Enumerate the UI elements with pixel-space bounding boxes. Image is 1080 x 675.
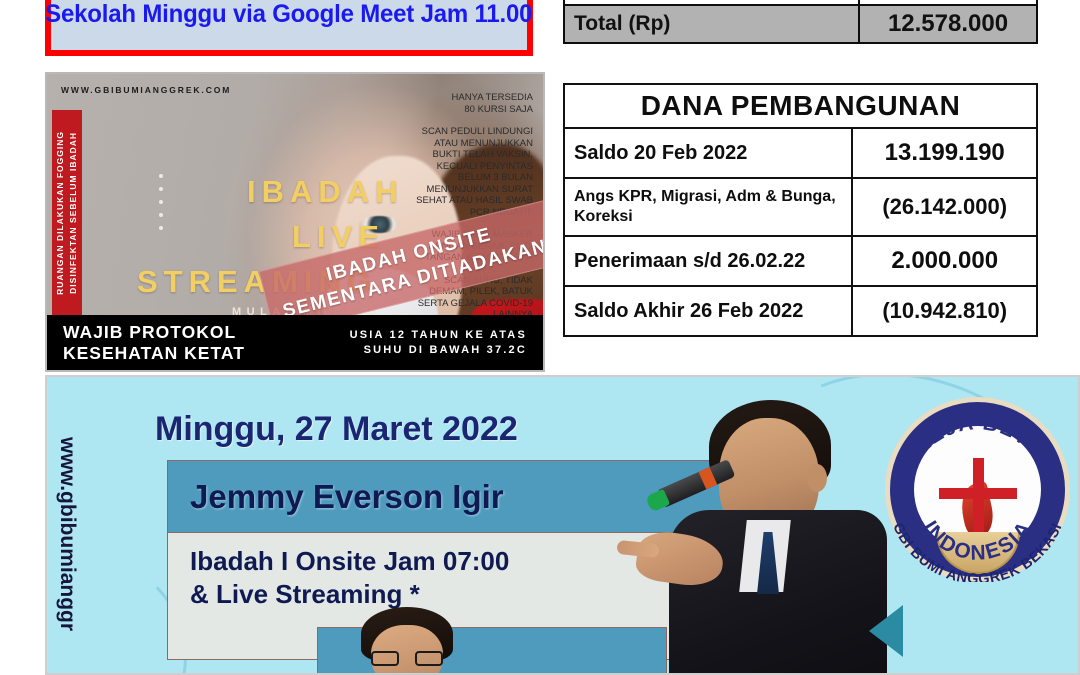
table-row: Penerimaan s/d 26.02.22 2.000.000 xyxy=(564,236,1037,286)
poster-note-0: HANYA TERSEDIA 80 KURSI SAJA xyxy=(385,92,533,115)
speaker-name: Jemmy Everson Igir xyxy=(190,478,504,516)
poster-footer-left: WAJIB PROTOKOL KESEHATAN KETAT xyxy=(63,322,245,364)
poster-footer: WAJIB PROTOKOL KESEHATAN KETAT USIA 12 T… xyxy=(47,315,543,370)
svg-text:INDONESIA: INDONESIA xyxy=(918,516,1037,564)
row-label-saldo-akhir: Saldo Akhir 26 Feb 2022 xyxy=(564,286,852,336)
page-root: Sekolah Minggu via Google Meet Jam 11.00… xyxy=(0,0,1080,675)
speaker-photo xyxy=(647,392,897,675)
row-label-total: Total (Rp) xyxy=(564,5,859,43)
svg-text:GEREJA BETHEL: GEREJA BETHEL xyxy=(891,411,1065,488)
row-value-saldo-akhir: (10.942.810) xyxy=(852,286,1037,336)
service-schedule-banner: www.gbibumianggr Minggu, 27 Maret 2022 J… xyxy=(45,375,1080,675)
table-row: Saldo Akhir 26 Feb 2022 (10.942.810) xyxy=(564,286,1037,336)
poster-note-1: SCAN PEDULI LINDUNGI ATAU MENUNJUKKAN BU… xyxy=(385,126,533,218)
speaker-ear xyxy=(807,464,827,492)
poster-website: WWW.GBIBUMIANGGREK.COM xyxy=(61,85,231,95)
gbi-logo: GEREJA BETHEL INDONESIA GBI BUMI ANGGREK… xyxy=(885,397,1070,582)
arrow-icon xyxy=(869,605,903,657)
glasses-icon xyxy=(371,651,443,666)
secondary-speaker-face xyxy=(371,625,443,675)
poster-dot-decoration xyxy=(159,174,163,230)
ibadah-live-streaming-poster: WWW.GBIBUMIANGGREK.COM RUANGAN DILAKUKAN… xyxy=(45,72,545,372)
row-value-penerimaan: 2.000.000 xyxy=(852,236,1037,286)
row-value-total: 12.578.000 xyxy=(859,5,1037,43)
dana-pembangunan-table: DANA PEMBANGUNAN Saldo 20 Feb 2022 13.19… xyxy=(563,83,1038,337)
poster-side-note: RUANGAN DILAKUKAN FOGGING DISINFEKTAN SE… xyxy=(52,110,82,315)
table-row-total: Total (Rp) 12.578.000 xyxy=(564,5,1037,43)
table-row: Saldo 20 Feb 2022 13.199.190 xyxy=(564,128,1037,178)
banner-website-vertical: www.gbibumianggr xyxy=(55,437,79,631)
poster-title-line1: IBADAH xyxy=(247,174,404,210)
banner-service-date: Minggu, 27 Maret 2022 xyxy=(155,410,518,449)
offerings-summary-table: Sulung - Total (Rp) 12.578.000 xyxy=(563,0,1038,44)
announcement-banner: Sekolah Minggu via Google Meet Jam 11.00 xyxy=(45,0,533,56)
table-row: Angs KPR, Migrasi, Adm & Bunga, Koreksi … xyxy=(564,178,1037,236)
row-value-saldo-awal: 13.199.190 xyxy=(852,128,1037,178)
announcement-inner: Sekolah Minggu via Google Meet Jam 11.00 xyxy=(51,0,527,50)
row-label-angsuran: Angs KPR, Migrasi, Adm & Bunga, Koreksi xyxy=(564,178,852,236)
logo-arc-top: GEREJA BETHEL xyxy=(891,411,1065,488)
poster-side-note-text: RUANGAN DILAKUKAN FOGGING DISINFEKTAN SE… xyxy=(54,131,80,295)
row-label-saldo-awal: Saldo 20 Feb 2022 xyxy=(564,128,852,178)
row-value-angsuran: (26.142.000) xyxy=(852,178,1037,236)
poster-footer-right: USIA 12 TAHUN KE ATAS SUHU DI BAWAH 37.2… xyxy=(350,328,527,358)
secondary-speaker-photo xyxy=(347,607,467,675)
dana-pembangunan-title: DANA PEMBANGUNAN xyxy=(564,84,1037,128)
logo-text: GEREJA BETHEL INDONESIA GBI BUMI ANGGREK… xyxy=(885,397,1070,582)
announcement-text: Sekolah Minggu via Google Meet Jam 11.00 xyxy=(45,0,532,29)
logo-arc-bottom: INDONESIA xyxy=(918,516,1037,564)
table-title-row: DANA PEMBANGUNAN xyxy=(564,84,1037,128)
row-label-penerimaan: Penerimaan s/d 26.02.22 xyxy=(564,236,852,286)
